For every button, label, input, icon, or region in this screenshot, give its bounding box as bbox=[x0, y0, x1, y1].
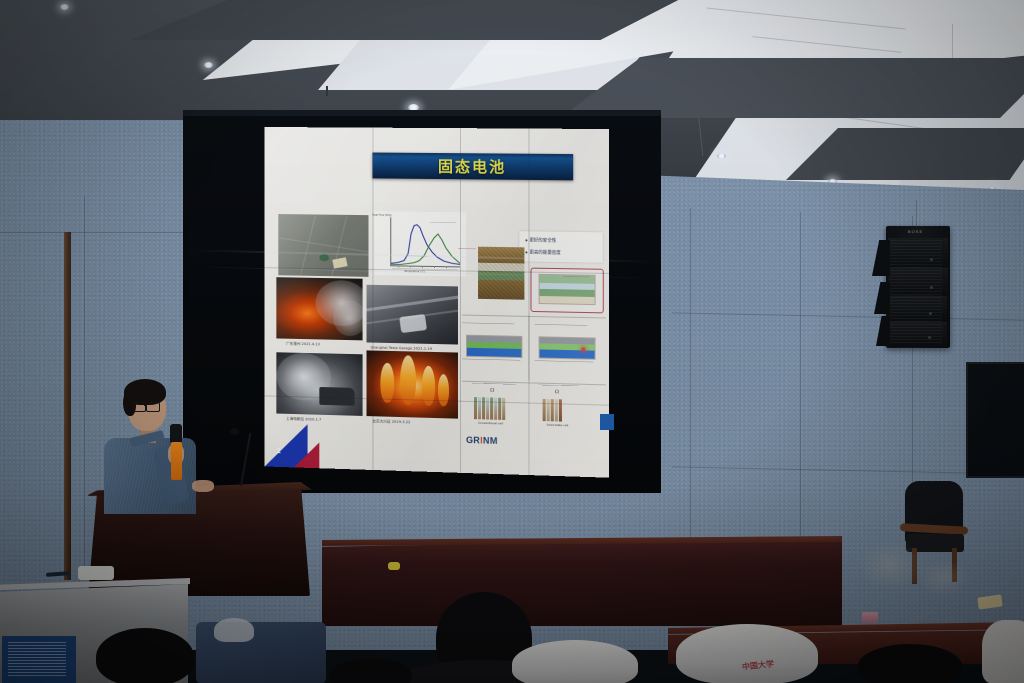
dsc-chart: Heat Flow (W/g) Temperature (°C) bbox=[374, 211, 466, 276]
caption-beijing: 北京大兴区 2019.3.22 bbox=[372, 418, 410, 425]
cart-panel-text bbox=[8, 642, 66, 676]
speaker-bolt bbox=[930, 258, 933, 261]
stage-front-panel bbox=[322, 538, 842, 626]
speaker-bolt bbox=[928, 336, 931, 339]
led-tile-seam bbox=[372, 128, 373, 470]
screen-edge-indicator bbox=[600, 414, 614, 430]
wall-mounted-monitor bbox=[966, 362, 1024, 478]
photo-night-wreck bbox=[276, 352, 362, 416]
bullet-dot-icon bbox=[525, 239, 527, 241]
wall-trim-strip bbox=[64, 232, 71, 580]
curve-solid-electrolyte bbox=[391, 233, 460, 265]
ceiling-downlight bbox=[204, 62, 213, 68]
laser-pointer-dot bbox=[581, 347, 585, 351]
wall-seam bbox=[0, 232, 190, 233]
table-object-pink-cup bbox=[862, 612, 878, 623]
bullet-item-2: 更高的能量密度 bbox=[525, 249, 560, 256]
photo-blaze bbox=[367, 350, 458, 418]
wall-scuff-mark bbox=[856, 540, 926, 592]
speaker-bolt bbox=[929, 312, 932, 315]
schematic-notes-right bbox=[535, 360, 594, 378]
wall-seam bbox=[84, 196, 85, 566]
slide-number: 2 bbox=[276, 447, 281, 455]
bullet-label: 更高的能量密度 bbox=[529, 249, 560, 256]
chart-legend bbox=[430, 222, 456, 227]
schematic-notes-left bbox=[462, 359, 520, 376]
stack-label-left: Conventional cell bbox=[478, 421, 503, 425]
bullet-item-1: 更好的安全性 bbox=[525, 237, 556, 243]
wall-scuff-mark bbox=[918, 560, 970, 596]
logo-text-right: NM bbox=[483, 435, 498, 445]
stage-object-yellow bbox=[388, 562, 400, 570]
presenter-hand-on-podium bbox=[192, 480, 214, 492]
tissue-on-cart bbox=[78, 566, 114, 580]
bullet-dot-icon bbox=[525, 251, 527, 253]
led-tile-seam bbox=[528, 129, 529, 476]
stack-label-right: Solid-state cell bbox=[547, 423, 569, 427]
audience-white-cap bbox=[676, 624, 818, 683]
led-tile-seam bbox=[460, 128, 461, 473]
audience-head bbox=[330, 658, 412, 683]
audience-hair-tie bbox=[214, 618, 254, 642]
photo-aerial-site bbox=[367, 285, 458, 345]
grinm-logo: GRINM bbox=[466, 435, 498, 446]
ceiling-sprinkler-stem bbox=[326, 86, 328, 96]
audience-head bbox=[982, 620, 1024, 683]
ceiling-inset-line bbox=[698, 112, 704, 156]
layer-schematic-right bbox=[539, 336, 596, 360]
handheld-microphone-head bbox=[170, 424, 182, 444]
presenter-glasses-lens bbox=[133, 402, 146, 412]
ceiling-downlight bbox=[60, 4, 69, 10]
caption-shanghai: 上海特斯拉 2020.1.7 bbox=[286, 416, 321, 422]
bullet-label: 更好的安全性 bbox=[529, 237, 556, 243]
podium-microphone-head bbox=[230, 428, 239, 435]
presenter-glasses-bridge bbox=[144, 405, 147, 406]
audience-white-cap bbox=[512, 640, 638, 683]
chart-curves bbox=[374, 211, 466, 276]
speaker-bolt bbox=[930, 286, 933, 289]
audience-head bbox=[96, 628, 194, 683]
wall-seam bbox=[690, 208, 691, 538]
ohm-symbol-right: Ω bbox=[555, 389, 559, 395]
presenter-glasses-lens bbox=[146, 402, 160, 412]
screen-surround-dark bbox=[183, 110, 661, 116]
speaker-grille bbox=[890, 240, 942, 344]
caption-guangdong: 广东惠州 2021.4.13 bbox=[286, 341, 320, 347]
slide-divider bbox=[462, 315, 606, 319]
speaker-brand-label: BOSE bbox=[908, 229, 923, 234]
photo-vehicle-fire bbox=[276, 277, 362, 340]
conference-photo: 固态电池 广东惠州 2021.4.13 Shanghai Tesla Garag… bbox=[0, 0, 1024, 683]
logo-text-left: GR bbox=[466, 435, 480, 445]
schematic-red-labels bbox=[563, 276, 590, 299]
speaker-suspension-wire bbox=[916, 200, 917, 228]
schematic-caption-left bbox=[462, 323, 514, 332]
audience-head bbox=[858, 644, 962, 683]
ceiling-downlight bbox=[717, 153, 726, 159]
ohm-symbol-left: Ω bbox=[490, 387, 494, 393]
schematic-caption-right bbox=[535, 324, 588, 333]
handheld-microphone-body bbox=[171, 442, 182, 480]
layer-schematic-left bbox=[466, 335, 522, 358]
presentation-slide: 固态电池 广东惠州 2021.4.13 Shanghai Tesla Garag… bbox=[265, 127, 609, 478]
slide-corner-triangle-red bbox=[294, 442, 319, 469]
wall-seam bbox=[800, 212, 801, 552]
ceiling-soffit-beam bbox=[130, 0, 690, 40]
slide-title: 固态电池 bbox=[372, 155, 573, 178]
ceiling-soffit-beam bbox=[560, 58, 1024, 118]
